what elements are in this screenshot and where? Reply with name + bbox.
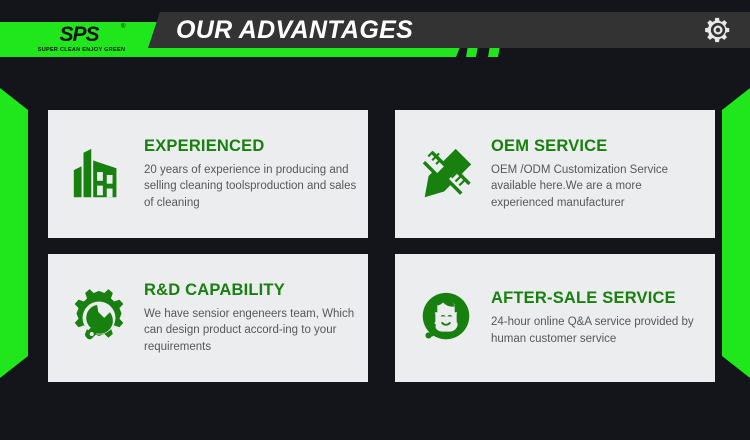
advantage-card[interactable]: OEM SERVICE OEM /ODM Customization Servi…: [395, 110, 715, 238]
card-description: 24-hour online Q&A service provided by h…: [491, 314, 705, 347]
logo-mark: SPS ®: [33, 24, 133, 46]
card-description: 20 years of experience in producing and …: [144, 162, 358, 212]
gear-wrench-icon: [62, 281, 136, 355]
card-body: OEM SERVICE OEM /ODM Customization Servi…: [483, 137, 705, 212]
card-title: R&D CAPABILITY: [144, 281, 358, 299]
page-title: OUR ADVANTAGES: [176, 12, 413, 48]
advantages-page: OUR ADVANTAGES SPS ® SUPER CLEAN ENJOY G…: [0, 0, 750, 440]
brand-logo[interactable]: SPS ® SUPER CLEAN ENJOY GREEN: [33, 24, 133, 56]
card-title: OEM SERVICE: [491, 137, 705, 155]
logo-brand-text: SPS: [33, 24, 125, 45]
card-body: R&D CAPABILITY We have sensior engeneers…: [136, 281, 358, 356]
logo-registered-mark: ®: [121, 24, 125, 30]
advantage-card[interactable]: EXPERIENCED 20 years of experience in pr…: [48, 110, 368, 238]
pencil-ruler-icon: [409, 137, 483, 211]
advantage-card[interactable]: AFTER-SALE SERVICE 24-hour online Q&A se…: [395, 254, 715, 382]
card-description: OEM /ODM Customization Service available…: [491, 162, 705, 212]
card-title: AFTER-SALE SERVICE: [491, 289, 705, 307]
advantages-card-grid: EXPERIENCED 20 years of experience in pr…: [48, 110, 703, 382]
settings-button[interactable]: [696, 8, 740, 52]
headset-support-icon: [409, 281, 483, 355]
card-body: AFTER-SALE SERVICE 24-hour online Q&A se…: [483, 289, 705, 347]
logo-tagline: SUPER CLEAN ENJOY GREEN: [33, 46, 130, 54]
building-icon: [62, 137, 136, 211]
advantage-card[interactable]: R&D CAPABILITY We have sensior engeneers…: [48, 254, 368, 382]
gear-icon: [703, 15, 733, 45]
card-body: EXPERIENCED 20 years of experience in pr…: [136, 137, 358, 212]
right-accent-shape: [722, 88, 750, 378]
page-header: OUR ADVANTAGES SPS ® SUPER CLEAN ENJOY G…: [0, 0, 750, 72]
card-title: EXPERIENCED: [144, 137, 358, 155]
left-accent-shape: [0, 88, 28, 378]
card-description: We have sensior engeneers team, Which ca…: [144, 306, 358, 356]
